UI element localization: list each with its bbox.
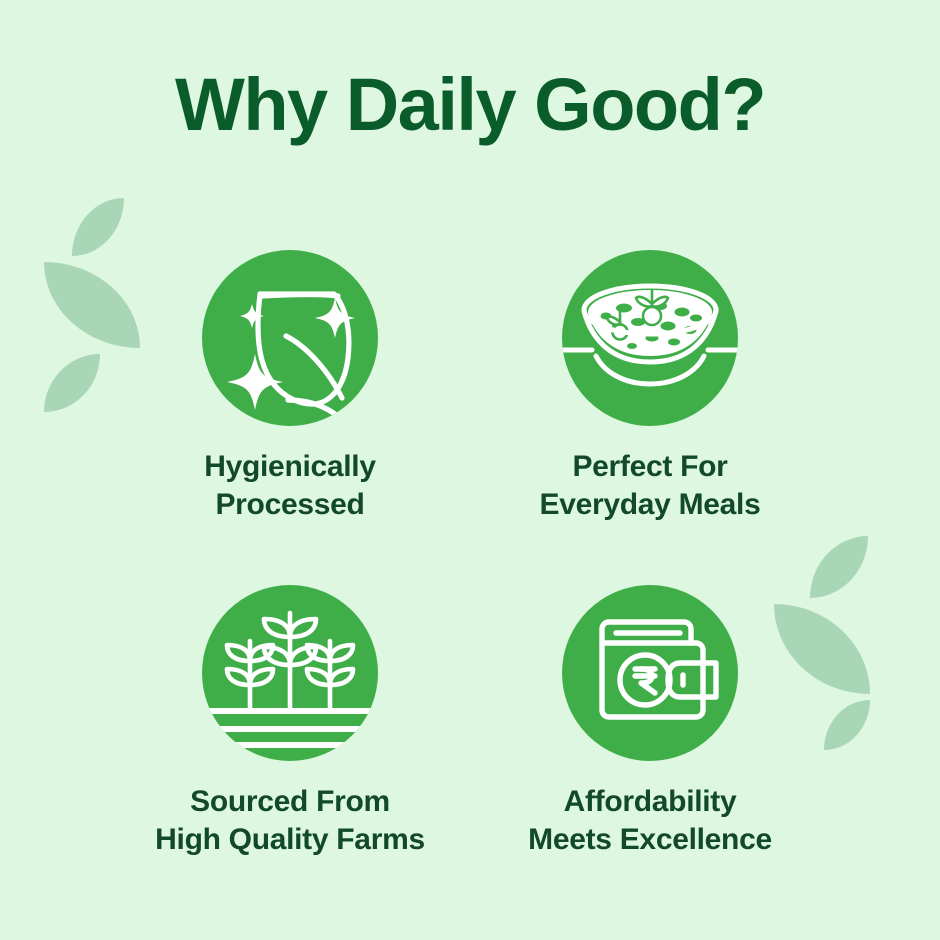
leaf-shape — [824, 700, 870, 750]
leaf-shape — [72, 198, 124, 256]
feature-item-sourced-from-high-quality-farms: Sourced From High Quality Farms — [110, 585, 470, 860]
feature-label: Affordability Meets Excellence — [528, 783, 772, 860]
feature-label: Perfect For Everyday Meals — [540, 448, 761, 525]
soup-bowl-icon — [562, 250, 738, 426]
feature-item-hygienically-processed: Hygienically Processed — [110, 250, 470, 525]
poster-canvas: Why Daily Good? — [0, 0, 940, 940]
wallet-rupee-icon — [562, 585, 738, 761]
feature-item-affordability-meets-excellence: Affordability Meets Excellence — [470, 585, 830, 860]
feature-item-perfect-for-everyday-meals: Perfect For Everyday Meals — [470, 250, 830, 525]
leaf-sparkle-icon — [202, 250, 378, 426]
feature-label: Hygienically Processed — [204, 448, 375, 525]
feature-grid: Hygienically Processed — [110, 250, 830, 860]
crop-field-icon — [202, 585, 378, 761]
feature-label: Sourced From High Quality Farms — [155, 783, 425, 860]
page-title: Why Daily Good? — [0, 68, 940, 142]
leaf-shape — [44, 354, 100, 412]
